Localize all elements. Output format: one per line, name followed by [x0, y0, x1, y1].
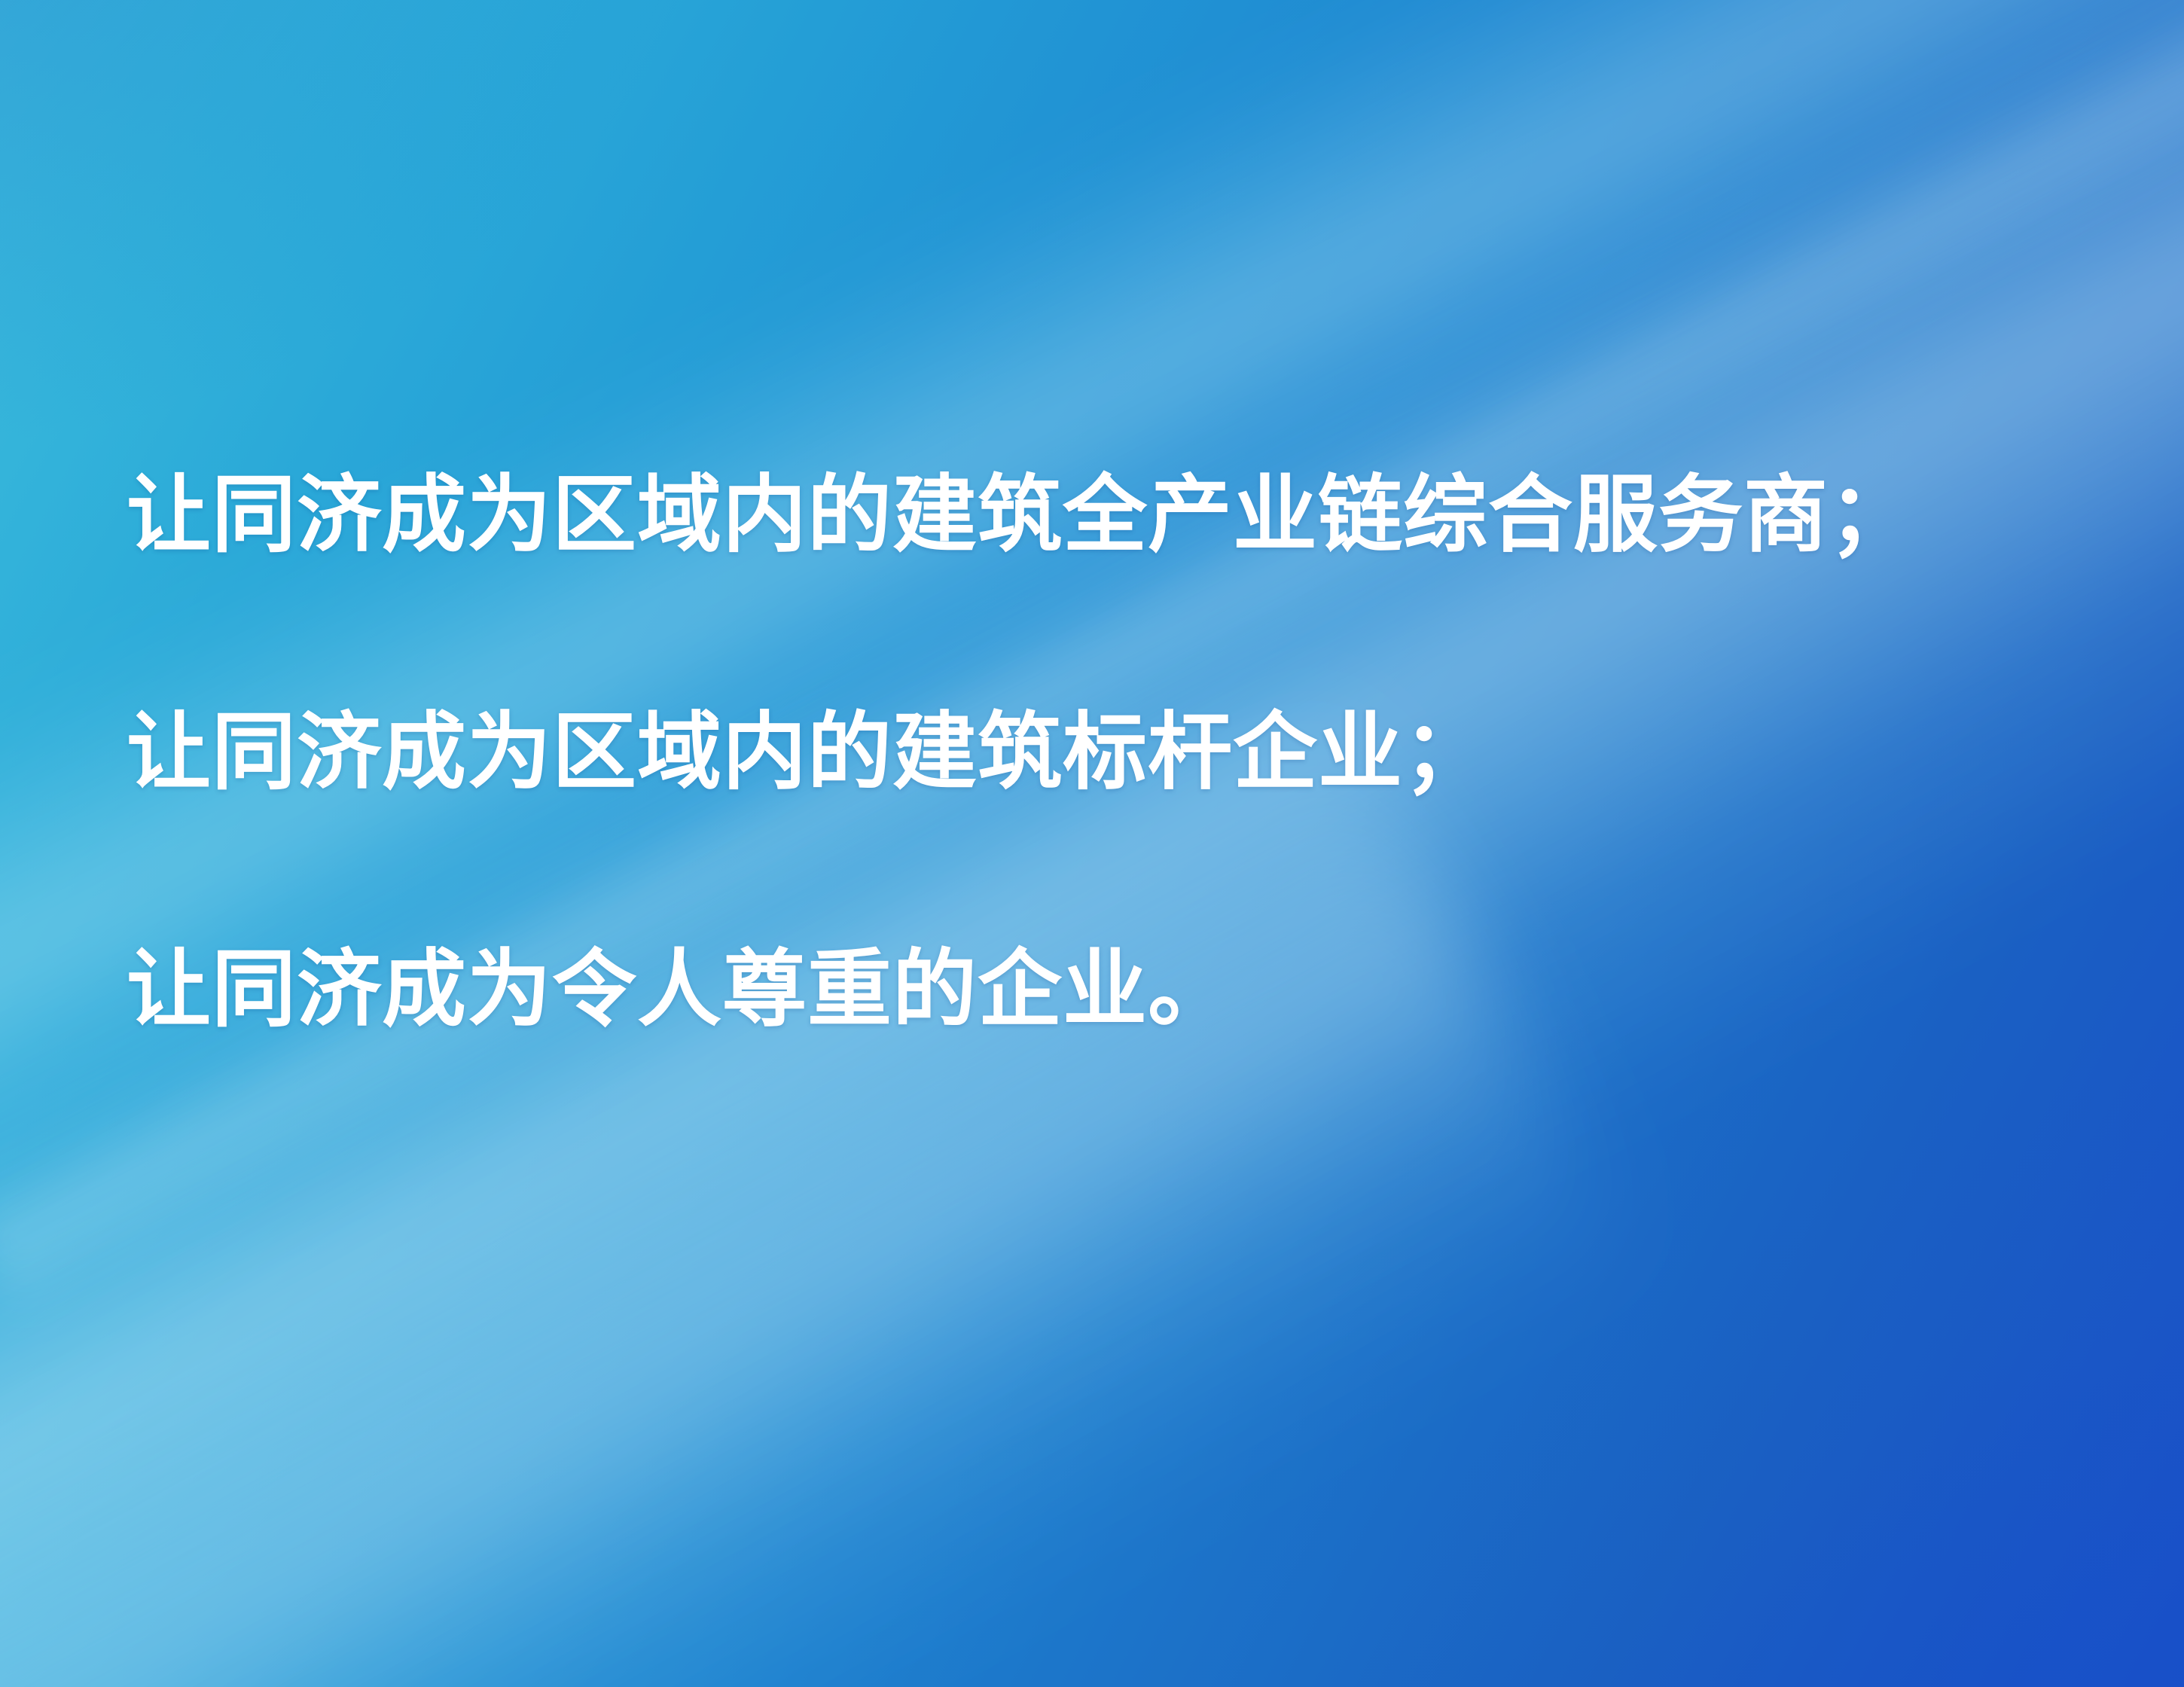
slide-line-2: 让同济成为区域内的建筑标杆企业； [127, 710, 2115, 795]
slide-line-1: 让同济成为区域内的建筑全产业链综合服务商； [127, 473, 2115, 557]
slide-text-block: 让同济成为区域内的建筑全产业链综合服务商； 让同济成为区域内的建筑标杆企业； 让… [127, 473, 2115, 1032]
presentation-slide: 让同济成为区域内的建筑全产业链综合服务商； 让同济成为区域内的建筑标杆企业； 让… [0, 0, 2184, 1687]
slide-line-3: 让同济成为令人尊重的企业。 [127, 947, 2115, 1032]
